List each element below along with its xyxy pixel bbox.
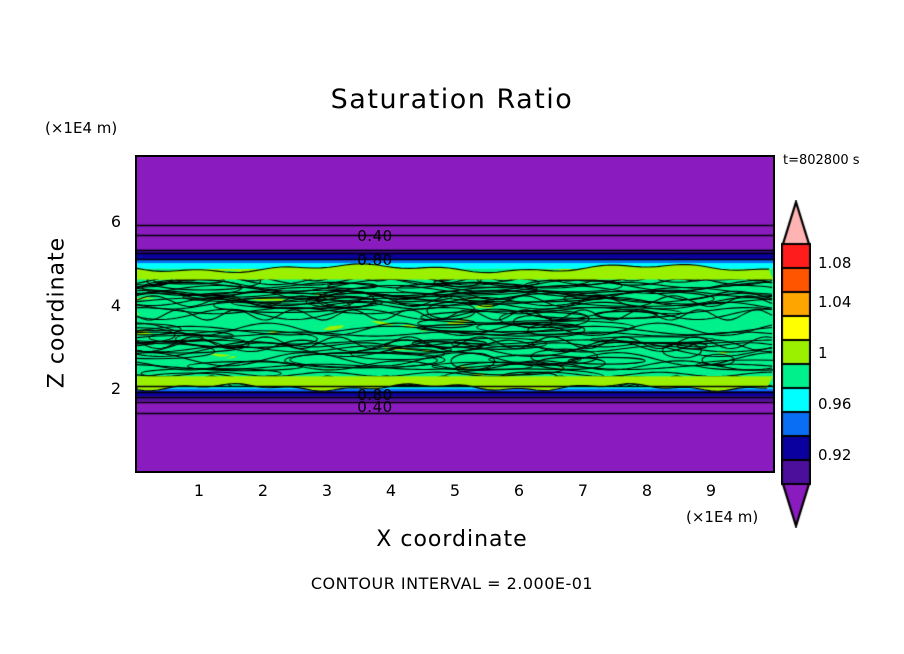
x-tick-label: 7 <box>571 481 595 500</box>
contour-plot-frame <box>135 155 775 473</box>
x-tick-label: 6 <box>507 481 531 500</box>
y-tick-label: 2 <box>99 379 121 398</box>
y-axis-title: Z coordinate <box>45 213 70 413</box>
contour-interval-footer: CONTOUR INTERVAL = 2.000E-01 <box>0 574 904 593</box>
x-axis-units-label: (×1E4 m) <box>686 508 758 526</box>
colorbar-tick-label: 1.04 <box>818 293 851 311</box>
colorbar-tick-label: 0.92 <box>818 446 851 464</box>
x-tick-label: 1 <box>187 481 211 500</box>
colorbar-tick-label: 1.08 <box>818 254 851 272</box>
x-tick-label: 5 <box>443 481 467 500</box>
colorbar <box>781 200 811 528</box>
y-tick-label: 4 <box>99 296 121 315</box>
x-tick-label: 4 <box>379 481 403 500</box>
colorbar-tick-label: 0.96 <box>818 395 851 413</box>
y-axis-units-label: (×1E4 m) <box>45 119 117 137</box>
contour-value-label: 0.40 <box>357 398 392 416</box>
colorbar-tick-label: 1 <box>818 344 828 362</box>
x-tick-label: 2 <box>251 481 275 500</box>
x-axis-title: X coordinate <box>0 527 904 552</box>
contour-value-label: 0.80 <box>357 251 392 269</box>
page-title: Saturation Ratio <box>0 84 904 115</box>
contour-value-label: 0.40 <box>357 227 392 245</box>
x-tick-label: 8 <box>635 481 659 500</box>
time-stamp-label: t=802800 s <box>783 153 860 168</box>
saturation-contour-field <box>137 157 773 471</box>
y-tick-label: 6 <box>99 212 121 231</box>
x-tick-label: 9 <box>699 481 723 500</box>
x-tick-label: 3 <box>315 481 339 500</box>
